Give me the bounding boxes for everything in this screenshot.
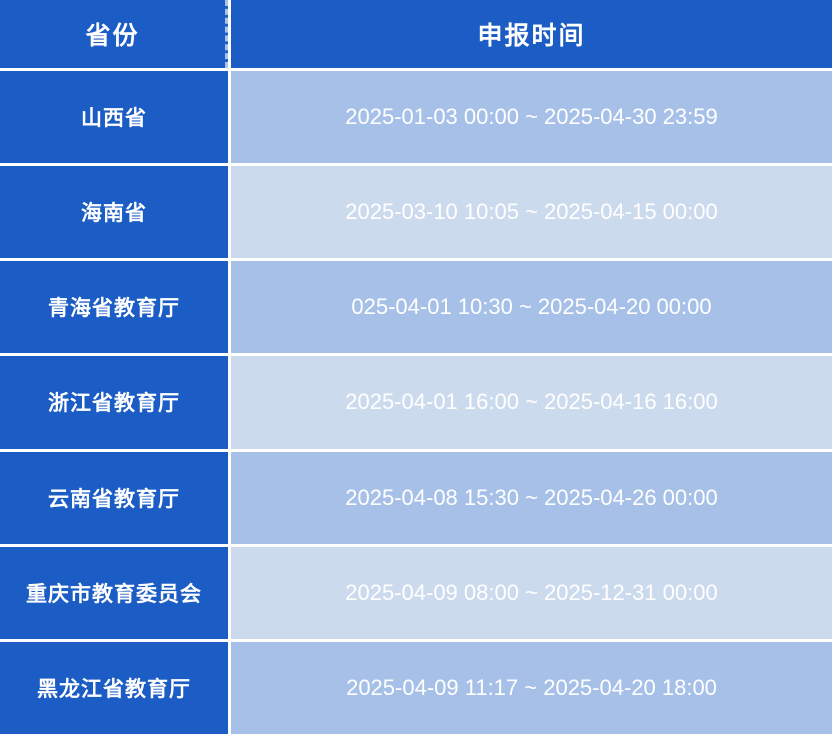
declaration-schedule-table: 省份 申报时间 山西省 2025-01-03 00:00 ~ 2025-04-3… (0, 0, 832, 734)
cell-province: 云南省教育厅 (0, 452, 228, 544)
table-row: 山西省 2025-01-03 00:00 ~ 2025-04-30 23:59 (0, 71, 832, 163)
column-header-province: 省份 (0, 0, 228, 68)
table-row: 黑龙江省教育厅 2025-04-09 11:17 ~ 2025-04-20 18… (0, 642, 832, 734)
column-header-declaration-time: 申报时间 (231, 0, 832, 68)
cell-province: 浙江省教育厅 (0, 356, 228, 448)
table-row: 云南省教育厅 2025-04-08 15:30 ~ 2025-04-26 00:… (0, 452, 832, 544)
table-row: 青海省教育厅 025-04-01 10:30 ~ 2025-04-20 00:0… (0, 261, 832, 353)
cell-province: 海南省 (0, 166, 228, 258)
cell-declaration-time: 2025-04-09 11:17 ~ 2025-04-20 18:00 (231, 642, 832, 734)
cell-declaration-time: 2025-04-01 16:00 ~ 2025-04-16 16:00 (231, 356, 832, 448)
cell-declaration-time: 2025-01-03 00:00 ~ 2025-04-30 23:59 (231, 71, 832, 163)
table-row: 海南省 2025-03-10 10:05 ~ 2025-04-15 00:00 (0, 166, 832, 258)
cell-declaration-time: 025-04-01 10:30 ~ 2025-04-20 00:00 (231, 261, 832, 353)
cell-province: 青海省教育厅 (0, 261, 228, 353)
table-body: 山西省 2025-01-03 00:00 ~ 2025-04-30 23:59 … (0, 68, 832, 734)
cell-province: 黑龙江省教育厅 (0, 642, 228, 734)
table-row: 重庆市教育委员会 2025-04-09 08:00 ~ 2025-12-31 0… (0, 547, 832, 639)
cell-declaration-time: 2025-04-08 15:30 ~ 2025-04-26 00:00 (231, 452, 832, 544)
cell-province: 重庆市教育委员会 (0, 547, 228, 639)
table-row: 浙江省教育厅 2025-04-01 16:00 ~ 2025-04-16 16:… (0, 356, 832, 448)
table-header-row: 省份 申报时间 (0, 0, 832, 68)
cell-declaration-time: 2025-04-09 08:00 ~ 2025-12-31 00:00 (231, 547, 832, 639)
cell-province: 山西省 (0, 71, 228, 163)
cell-declaration-time: 2025-03-10 10:05 ~ 2025-04-15 00:00 (231, 166, 832, 258)
